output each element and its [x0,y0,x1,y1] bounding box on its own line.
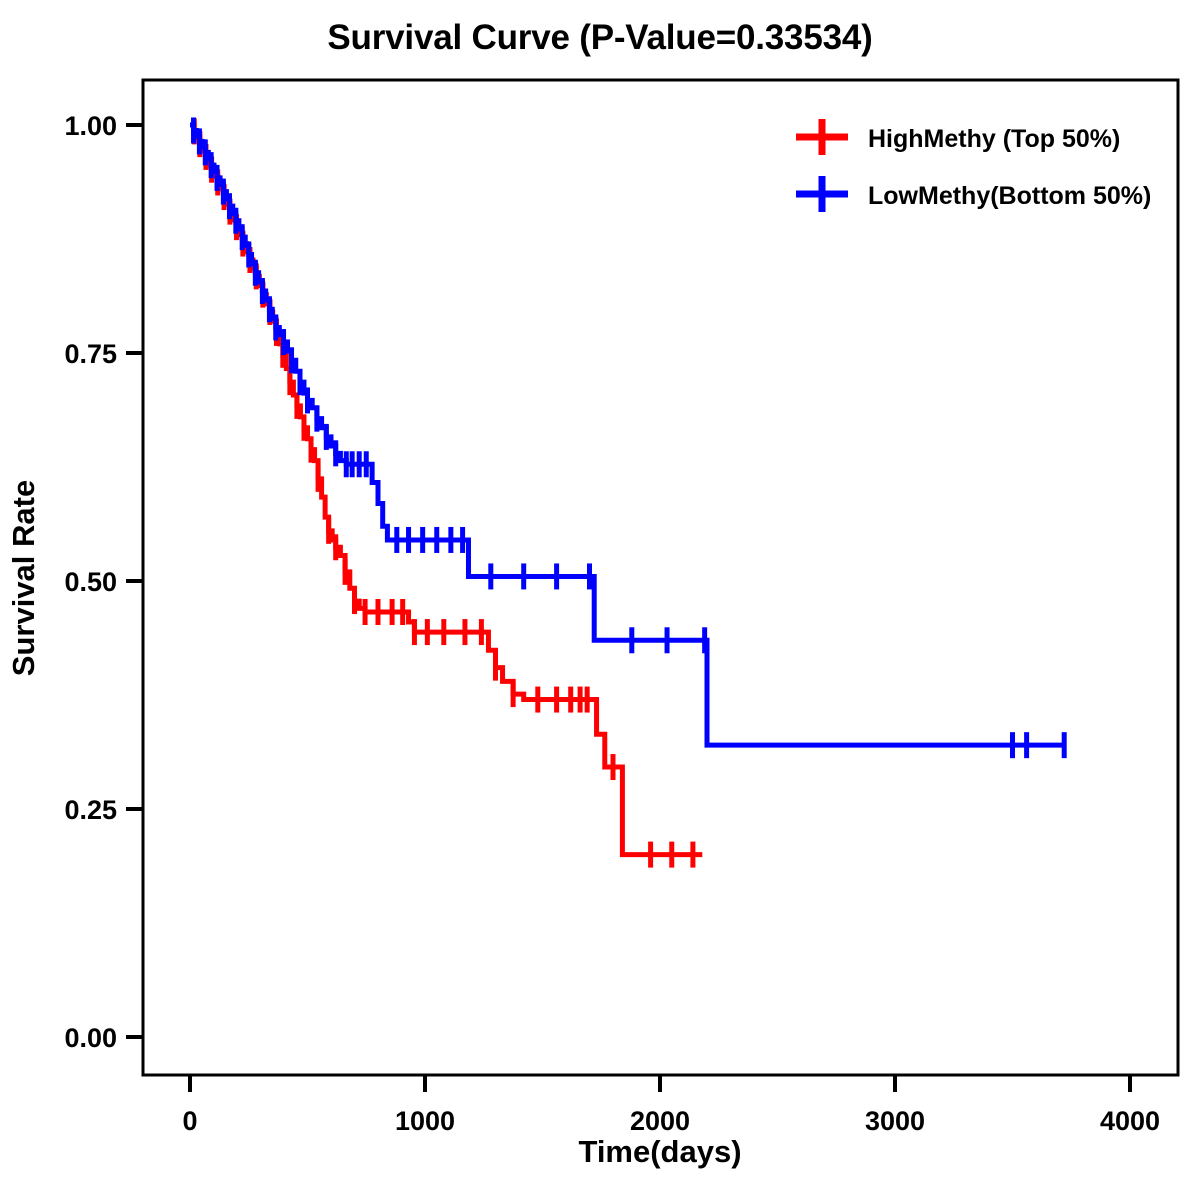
plot-frame [143,80,1178,1075]
survival-plot: 0.000.250.500.751.00 01000200030004000 H… [0,0,1200,1200]
legend-label-1: LowMethy(Bottom 50%) [868,182,1151,210]
y-tick-label: 1.00 [64,111,117,141]
x-axis-ticks: 01000200030004000 [182,1075,1160,1136]
survival-chart-page: Survival Curve (P-Value=0.33534) 0.000.2… [0,0,1200,1200]
y-tick-label: 0.75 [64,339,117,369]
y-axis-title: Survival Rate [6,480,41,676]
y-tick-label: 0.00 [64,1023,117,1053]
x-tick-label: 2000 [630,1106,690,1136]
x-axis-title: Time(days) [578,1134,741,1169]
x-tick-label: 1000 [395,1106,455,1136]
x-tick-label: 0 [182,1106,197,1136]
y-tick-label: 0.50 [64,567,117,597]
legend-label-0: HighMethy (Top 50%) [868,125,1120,153]
y-axis-ticks: 0.000.250.500.751.00 [64,111,143,1053]
x-tick-label: 3000 [865,1106,925,1136]
y-tick-label: 0.25 [64,795,117,825]
x-tick-label: 4000 [1100,1106,1160,1136]
